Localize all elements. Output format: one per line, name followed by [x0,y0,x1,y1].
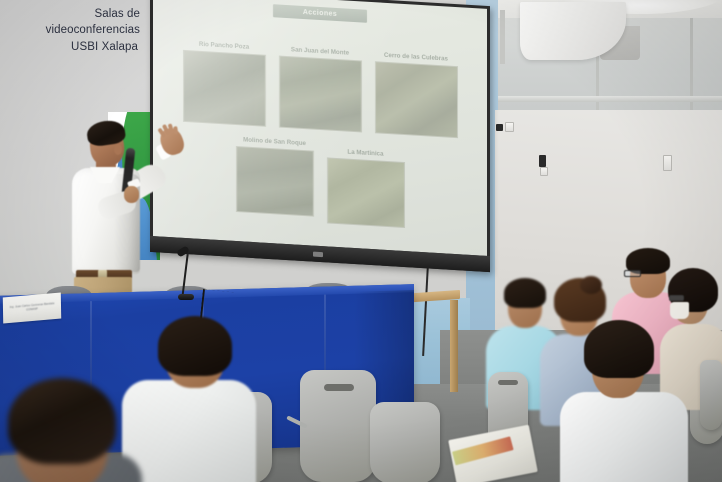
wooden-table-leg [450,300,458,392]
projected-slide: Acciones Rio Pancho Poza San Juan del Mo… [153,0,487,256]
slide-photo-caption: La Martinica [347,149,383,158]
slide-photo-caption: San Juan del Monte [291,46,349,56]
attendee-hair [158,316,232,376]
name-placard-text: Ing. Juan Carlos Contreras Bandala CONAN… [10,302,55,314]
microphone-stem [181,254,188,298]
slide-photo-cell: Cerro de las Culebras [375,51,458,138]
attendee-hair [584,320,654,378]
wall-switch-box[interactable] [505,122,514,132]
screen-brand-badge [313,252,323,258]
attendee-hair [8,378,116,464]
slide-photo-image [183,50,266,127]
glass-partition-rail [498,96,722,102]
ac-bracket [500,10,505,64]
slide-photo-image [375,61,458,138]
eyeglasses-icon [669,295,684,301]
attendee-hair-bun [580,276,602,294]
wall-switch-plate[interactable] [663,155,672,171]
slide-photo-cell: Molino de San Roque [236,136,314,223]
attendee-white-shirt-mid [122,332,256,482]
slide-photo-cell: Rio Pancho Poza [183,40,266,127]
wall-sensor-icon [496,124,503,131]
wall-signage-line1: Salas de videoconferencias [12,6,140,39]
wall-outlet-box[interactable] [540,167,548,176]
microphone-base [178,294,194,300]
conference-room-photo: Acciones Rio Pancho Poza San Juan del Mo… [0,0,722,482]
name-placard: Ing. Juan Carlos Contreras Bandala CONAN… [3,292,61,323]
gooseneck-microphone-icon [172,248,202,300]
wall-outlet-dark-icon[interactable] [539,155,546,167]
slide-photo-image [279,56,362,133]
presenter-finger [173,126,178,134]
slide-photo-row-2: Molino de San Roque La Martinica [163,132,477,233]
face-mask-icon [670,302,689,319]
slide-photo-row-1: Rio Pancho Poza San Juan del Monte Cerro… [163,19,477,140]
eyeglasses-icon [624,270,641,277]
slide-photo-cell: La Martinica [327,147,405,228]
slide-photo-caption: Cerro de las Culebras [384,52,448,63]
slide-photo-image [327,157,405,228]
slide-title-banner: Acciones [273,4,367,23]
projection-screen: Acciones Rio Pancho Poza San Juan del Mo… [150,0,490,272]
attendee-foreground-left [0,378,142,482]
attendee-white-shirt-foreground [560,320,688,482]
glass-mullion [690,18,693,118]
slide-photo-caption: Rio Pancho Poza [199,41,249,51]
presenter-ear [114,144,122,155]
presenter-mic-hand [124,186,139,203]
slide-photo-cell: San Juan del Monte [279,46,362,133]
slide-photo-caption: Molino de San Roque [243,136,306,147]
audience-chair[interactable] [300,370,376,482]
slide-title: Acciones [303,9,337,18]
projection-screen-surface: Acciones Rio Pancho Poza San Juan del Mo… [153,0,487,256]
audience-chair[interactable] [370,402,440,482]
chair-handle-slot [498,380,518,385]
notebook-color-strip [452,436,514,465]
wall-signage-line2: USBI Xalapa [12,39,140,55]
wall-signage: Salas de videoconferencias USBI Xalapa [12,6,140,55]
attendee-torso [122,380,256,482]
slide-photo-image [236,146,314,217]
chair-handle-slot [324,384,354,391]
audience-chair[interactable] [700,360,722,430]
attendee-torso [560,392,688,482]
